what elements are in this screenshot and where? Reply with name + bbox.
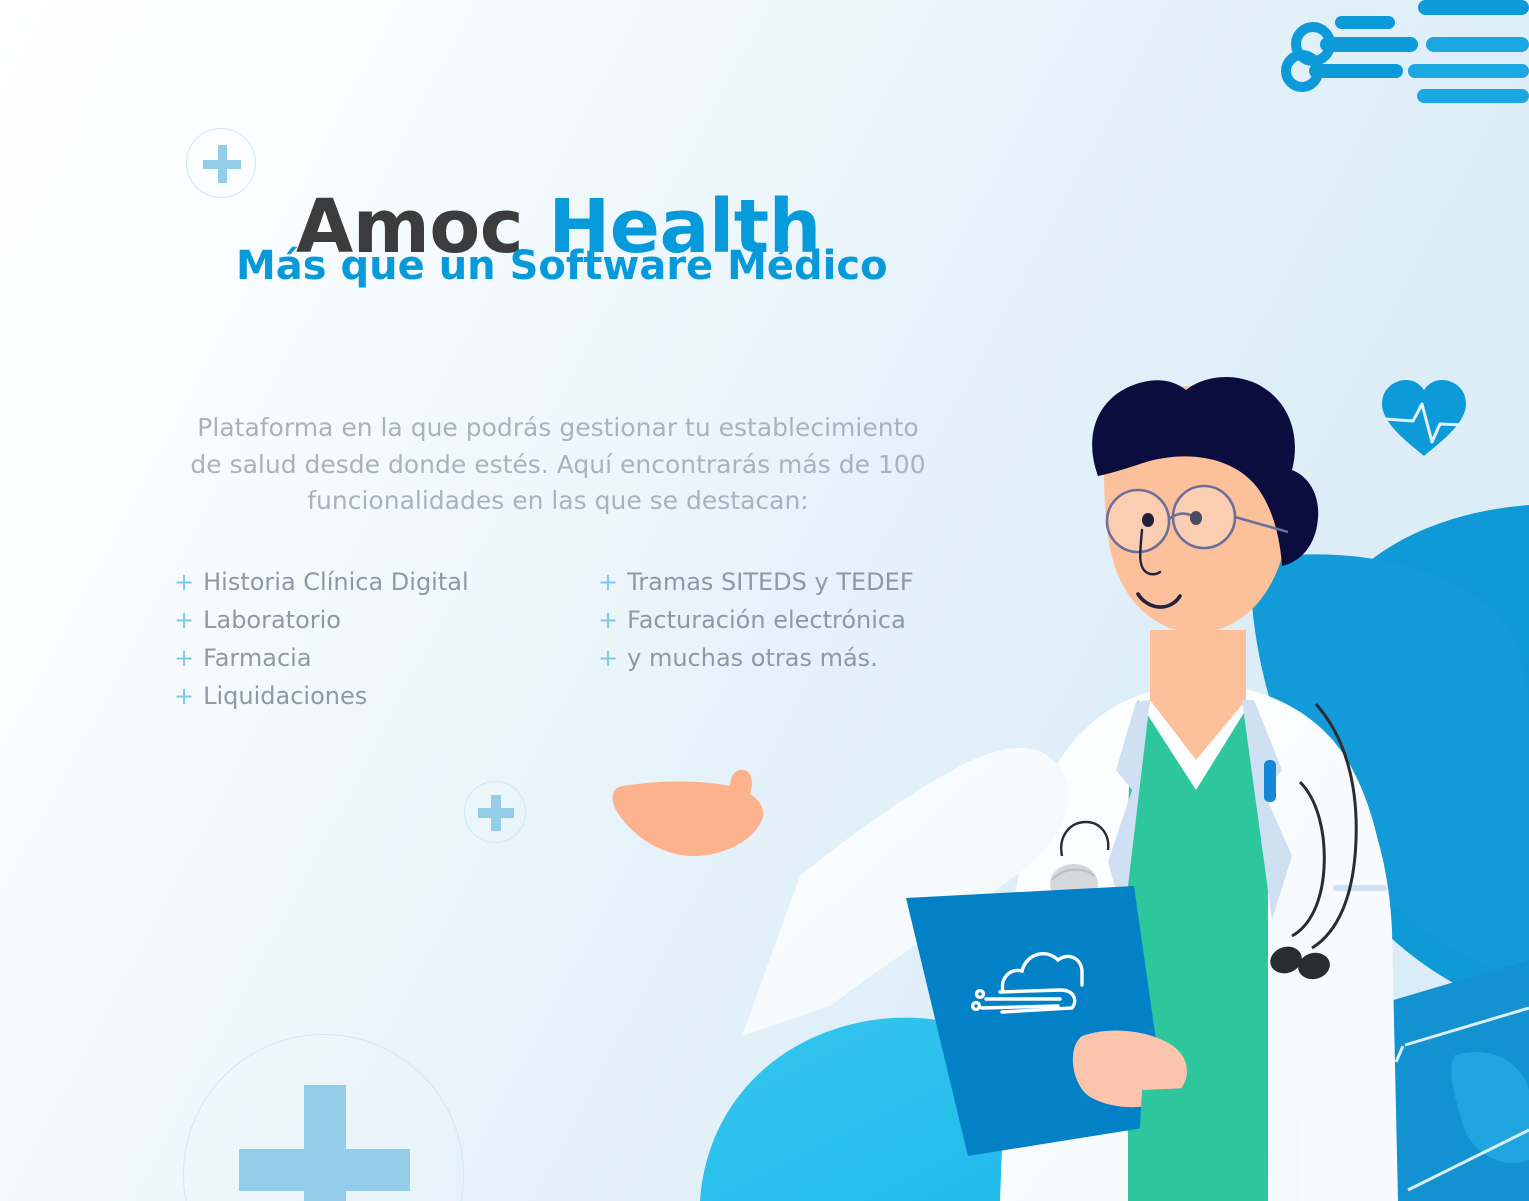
bg-blob-right (1296, 505, 1529, 1012)
feature-column-right: + Tramas SITEDS y TEDEF + Facturación el… (598, 568, 938, 682)
bg-panel-lower-right (1300, 960, 1529, 1201)
feature-label: Farmacia (203, 644, 311, 672)
feature-label: Laboratorio (203, 606, 341, 634)
hero-content: Amoc Health Más que un Software Médico P… (0, 0, 960, 1201)
plus-bullet-icon: + (598, 606, 618, 634)
plus-bullet-icon: + (174, 606, 194, 634)
feature-item: + Farmacia (174, 644, 574, 682)
plus-circle-icon (186, 128, 256, 198)
plus-bar-vertical (304, 1085, 346, 1201)
feature-label: Historia Clínica Digital (203, 568, 469, 596)
cloud-circuit-icon (973, 954, 1082, 1012)
plus-bar-vertical (491, 795, 501, 831)
circuit-lines-icon (1286, 0, 1529, 103)
promo-hero: Amoc Health Más que un Software Médico P… (0, 0, 1529, 1201)
plus-circle-icon (183, 1034, 464, 1201)
heart-pulse-icon (1382, 380, 1466, 456)
plus-bullet-icon: + (174, 568, 194, 596)
plus-circle-icon (464, 781, 526, 843)
feature-item: + Laboratorio (174, 606, 574, 644)
feature-label: Tramas SITEDS y TEDEF (627, 568, 914, 596)
feature-item: + y muchas otras más. (598, 644, 938, 682)
plus-bullet-icon: + (598, 568, 618, 596)
feature-label: Facturación electrónica (627, 606, 906, 634)
intro-paragraph: Plataforma en la que podrás gestionar tu… (178, 410, 938, 520)
plus-bullet-icon: + (598, 644, 618, 672)
page-subtitle: Más que un Software Médico (236, 242, 888, 290)
feature-item: + Liquidaciones (174, 682, 574, 720)
bg-blob-right-2 (1250, 554, 1529, 980)
feature-item: + Facturación electrónica (598, 606, 938, 644)
plus-bar-vertical (218, 145, 227, 183)
plus-bullet-icon: + (174, 682, 194, 710)
feature-item: + Tramas SITEDS y TEDEF (598, 568, 938, 606)
feature-label: Liquidaciones (203, 682, 367, 710)
feature-label: y muchas otras más. (627, 644, 878, 672)
feature-item: + Historia Clínica Digital (174, 568, 574, 606)
feature-column-left: + Historia Clínica Digital + Laboratorio… (174, 568, 574, 720)
plus-bullet-icon: + (174, 644, 194, 672)
bg-accent-lower-right (1451, 1052, 1529, 1163)
